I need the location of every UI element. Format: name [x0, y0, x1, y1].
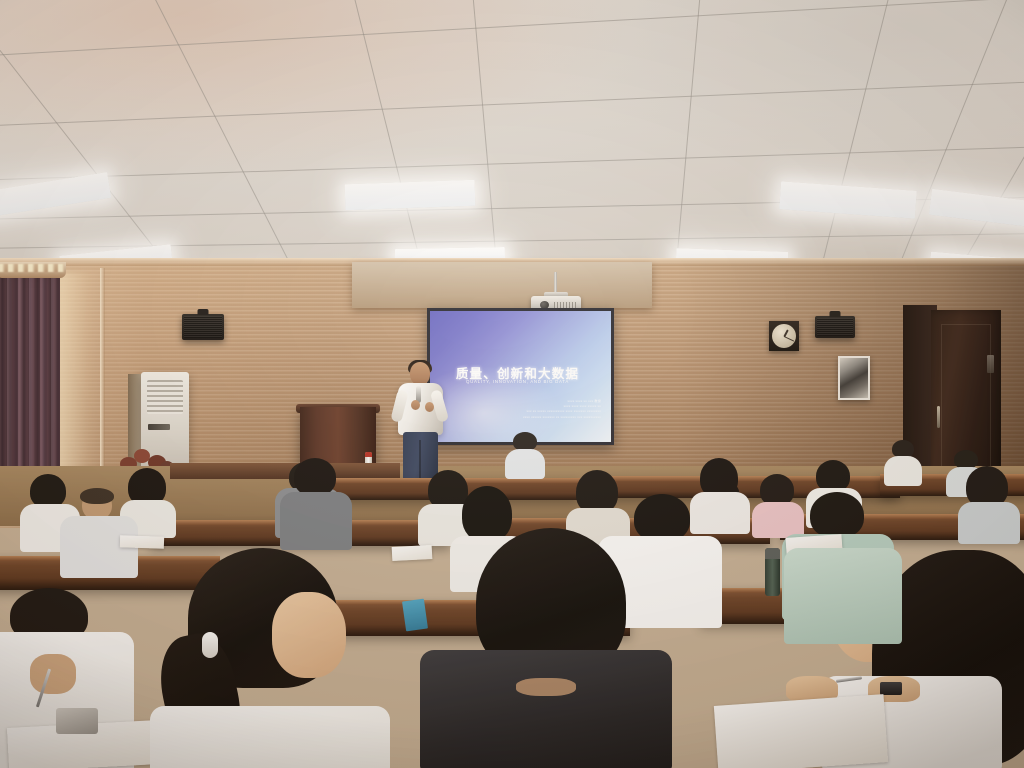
person-hair: [80, 488, 114, 504]
foreground-person-center: [420, 528, 672, 768]
speaker-grill: [817, 318, 853, 336]
clock-minute-hand: [784, 336, 794, 342]
presenter-hand-left: [411, 400, 420, 410]
door-panel: [941, 324, 991, 471]
valance-light-strip: [0, 264, 64, 272]
person-torso: [958, 502, 1020, 544]
screen-soffit: [352, 262, 652, 308]
person-torso: [884, 456, 922, 486]
presenter-hand-right: [425, 402, 434, 412]
wall-clock: [769, 321, 799, 351]
person-torso: [280, 492, 352, 550]
slide-credit-line: xxx xx xxxxx xxxxxxxxxx xxxx xxxxxxx xxx…: [523, 409, 601, 414]
window-daylight-glow: [56, 272, 102, 482]
note-paper[interactable]: [714, 694, 888, 768]
drink-bottle[interactable]: [765, 548, 780, 596]
person-torso: [505, 449, 545, 479]
wall-speaker-right: [815, 316, 855, 338]
slide-credits: xxxx xxxx xx xxx 教授 xxxx xxxx xxxx xxxxx…: [523, 399, 601, 420]
speaker-bracket: [198, 309, 209, 315]
speaker-bracket: [830, 311, 841, 317]
projection-screen: 质量、创新和大数据 QUALITY, INNOVATION, AND BIG D…: [427, 308, 614, 445]
framed-picture: [838, 356, 870, 400]
person-torso: [420, 650, 672, 768]
bottle-cap: [765, 548, 780, 559]
audience-person: [884, 440, 922, 484]
door-plate: [987, 355, 994, 373]
presenter: [392, 362, 448, 480]
door-handle[interactable]: [937, 406, 940, 428]
ac-vent-grill: [147, 380, 183, 414]
audience-person: [60, 490, 138, 576]
presenter-head: [410, 362, 430, 385]
wristwatch: [880, 682, 902, 695]
person-torso: [150, 706, 390, 768]
note-paper[interactable]: [120, 535, 164, 549]
audience-person: [958, 466, 1020, 540]
window-curtain: [0, 268, 60, 490]
audience-person: [280, 458, 352, 548]
foreground-person-ponytail: [136, 548, 386, 768]
bottle-cap: [365, 452, 372, 457]
audience-person-mint: [784, 548, 902, 644]
clock-face: [772, 324, 796, 348]
wall-speaker-left: [182, 314, 224, 340]
person-hand-area: [30, 654, 76, 694]
slide-credit-line: xxxx xxxxxx xxxxxxx xx xxxxxxxxx xxx xxx…: [523, 415, 601, 420]
hair-tie: [202, 632, 218, 658]
picture-image: [840, 358, 868, 398]
mobile-phone[interactable]: [56, 708, 98, 734]
curtain-folds: [0, 268, 60, 490]
audience-person: [505, 432, 545, 478]
person-head: [272, 592, 346, 678]
speaker-grill: [184, 316, 222, 338]
slide-subtitle: QUALITY, INNOVATION, AND BIG DATA: [430, 379, 605, 384]
person-torso: [784, 548, 902, 644]
person-neck: [516, 678, 576, 696]
slide-surface: 质量、创新和大数据 QUALITY, INNOVATION, AND BIG D…: [430, 311, 611, 442]
lecture-hall-photo: 质量、创新和大数据 QUALITY, INNOVATION, AND BIG D…: [0, 0, 1024, 768]
person-hair: [810, 492, 864, 538]
person-hair: [294, 458, 336, 496]
ac-control-panel[interactable]: [148, 424, 170, 430]
suspended-ceiling: [0, 0, 1024, 300]
ceiling-light-panel: [345, 180, 476, 211]
wall-corner-edge: [100, 268, 105, 483]
